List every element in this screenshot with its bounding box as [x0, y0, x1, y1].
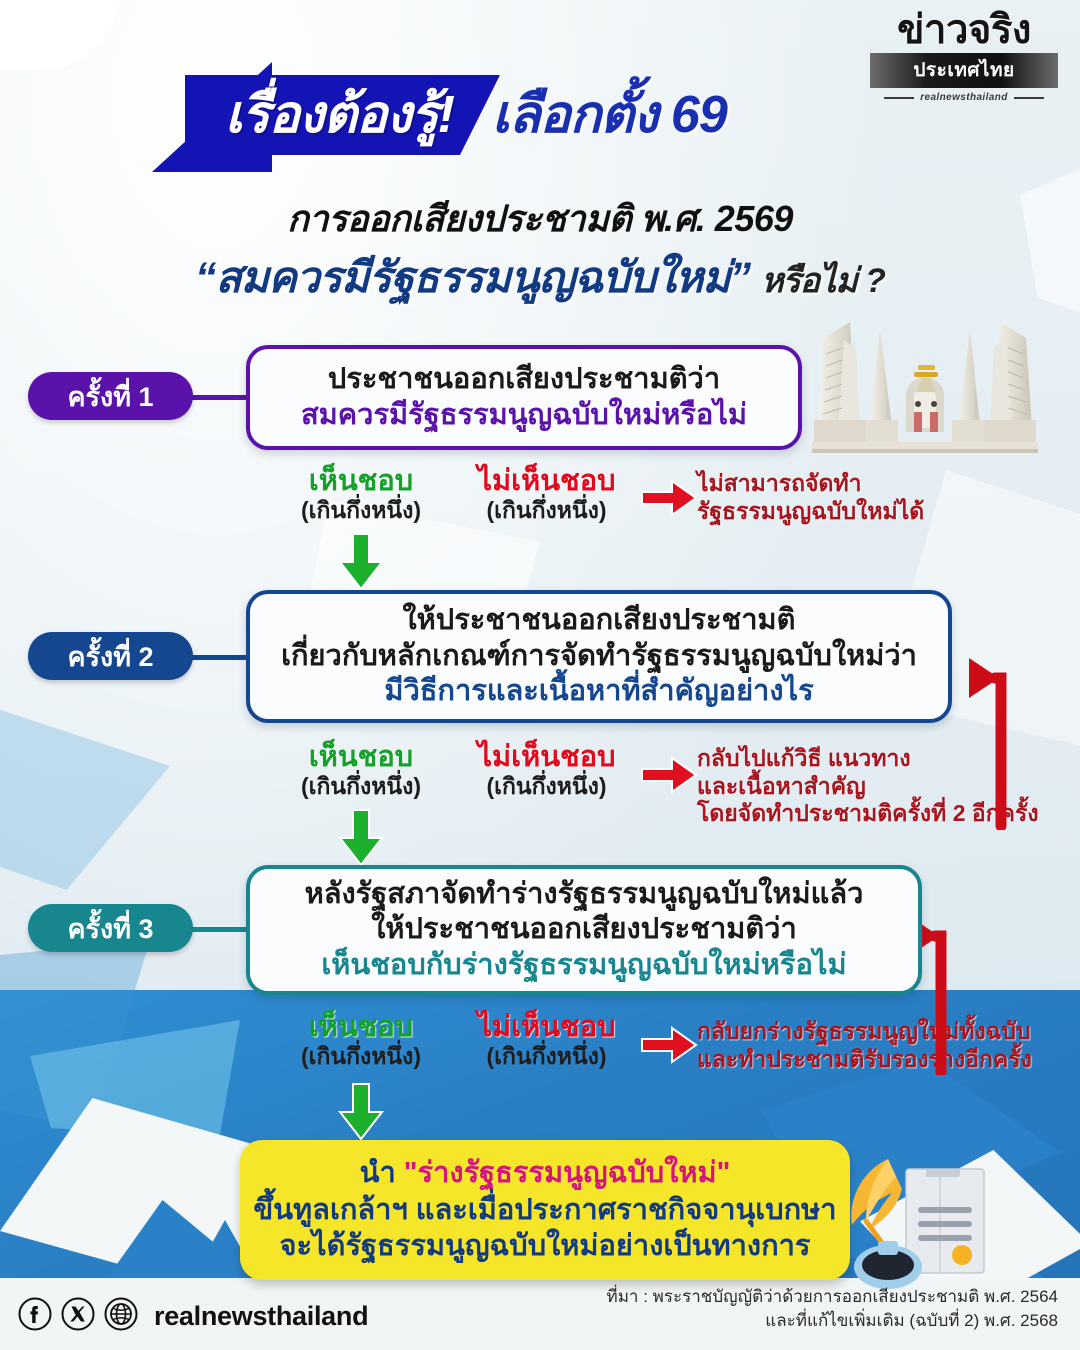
decision-step-1-reject-sub: (เกินกึ่งหนึ่ง) — [459, 498, 634, 523]
badge-step-1: ครั้งที่ 1 — [28, 372, 193, 420]
social-handle: realnewsthailand — [154, 1301, 368, 1332]
decision-step-3-reject: ไม่เห็นชอบ (เกินกึ่งหนึ่ง) — [459, 1012, 634, 1070]
red-right-arrow-icon-3 — [640, 1025, 698, 1065]
outcome-step-1-line-1: ไม่สามารถจัดทำ — [697, 470, 924, 498]
red-loop-back-arrow-icon-2 — [965, 640, 1035, 830]
card-step-2-line-2: เกี่ยวกับหลักเกณฑ์การจัดทำรัฐธรรมนูญฉบับ… — [281, 639, 917, 674]
decision-step-2-reject-sub: (เกินกึ่งหนึ่ง) — [459, 774, 634, 799]
social-links[interactable]: realnewsthailand — [18, 1297, 368, 1336]
decision-step-2-approve: เห็นชอบ (เกินกึ่งหนึ่ง) — [286, 742, 436, 800]
final-line-1: นำ "ร่างรัฐธรรมนูญฉบับใหม่" — [360, 1155, 731, 1192]
subtitle-line-1: การออกเสียงประชามติ พ.ศ. 2569 — [0, 190, 1080, 247]
green-down-arrow-icon-3 — [338, 1082, 384, 1142]
source-citation: ที่มา : พระราชบัญญัติว่าด้วยการออกเสียงป… — [607, 1285, 1058, 1334]
quill-and-document-icon — [844, 1155, 1044, 1295]
header-banner: เรื่องต้องรู้! เลือกตั้ง 69 — [185, 75, 727, 155]
decision-step-2-approve-sub: (เกินกึ่งหนึ่ง) — [286, 774, 436, 799]
card-step-2-line-3: มีวิธีการและเนื้อหาที่สำคัญอย่างไร — [384, 674, 813, 709]
badge-step-2-label: ครั้งที่ 2 — [67, 635, 153, 678]
final-line-1-prefix: นำ — [360, 1157, 404, 1189]
decision-step-2-reject-head: ไม่เห็นชอบ — [459, 742, 634, 772]
infographic-page: ข่าวจริง ประเทศไทย realnewsthailand เรื่… — [0, 0, 1080, 1350]
red-right-arrow-icon-2 — [640, 755, 698, 795]
decision-step-3-reject-head: ไม่เห็นชอบ — [459, 1012, 634, 1042]
badge-step-3: ครั้งที่ 3 — [28, 904, 193, 952]
card-step-2: ให้ประชาชนออกเสียงประชามติ เกี่ยวกับหลัก… — [246, 590, 952, 723]
banner-rest-block: เลือกตั้ง 69 — [474, 75, 727, 155]
card-step-2-line-1: ให้ประชาชนออกเสียงประชามติ — [403, 603, 796, 638]
red-right-arrow-icon — [640, 478, 698, 518]
logo-line-1: ข่าวจริง — [870, 10, 1058, 50]
decision-step-1-reject: ไม่เห็นชอบ (เกินกึ่งหนึ่ง) — [459, 466, 634, 524]
subtitle-quote: “สมควรมีรัฐธรรมนูญฉบับใหม่” — [195, 254, 750, 302]
banner-highlight-block: เรื่องต้องรู้! — [185, 75, 500, 155]
outcome-step-1: ไม่สามารถจัดทำ รัฐธรรมนูญฉบับใหม่ได้ — [697, 470, 924, 525]
badge-step-1-label: ครั้งที่ 1 — [67, 375, 153, 418]
banner-rest-text: เลือกตั้ง 69 — [492, 89, 727, 141]
source-line-1: ที่มา : พระราชบัญญัติว่าด้วยการออกเสียงป… — [607, 1285, 1058, 1310]
facebook-icon[interactable] — [18, 1297, 52, 1336]
final-result-box: นำ "ร่างรัฐธรรมนูญฉบับใหม่" ขึ้นทูลเกล้า… — [240, 1140, 850, 1280]
final-line-3: จะได้รัฐธรรมนูญฉบับใหม่อย่างเป็นทางการ — [279, 1228, 810, 1265]
card-step-3-line-3: เห็นชอบกับร่างรัฐธรรมนูญฉบับใหม่หรือไม่ — [321, 948, 846, 983]
badge-step-3-label: ครั้งที่ 3 — [67, 907, 153, 950]
globe-icon[interactable] — [104, 1297, 138, 1336]
card-step-3-line-1: หลังรัฐสภาจัดทำร่างรัฐธรรมนูญฉบับใหม่แล้… — [305, 877, 864, 912]
decision-step-1-approve: เห็นชอบ (เกินกึ่งหนึ่ง) — [286, 466, 436, 524]
outcome-step-3-line-2: และทำประชามติรับรองร่างอีกครั้ง — [697, 1046, 1032, 1074]
card-step-3-line-2: ให้ประชาชนออกเสียงประชามติว่า — [371, 912, 797, 947]
decision-step-3-reject-sub: (เกินกึ่งหนึ่ง) — [459, 1044, 634, 1069]
democracy-monument-icon — [810, 300, 1040, 460]
green-down-arrow-icon-1 — [338, 532, 384, 592]
source-line-2: และที่แก้ไขเพิ่มเติม (ฉบับที่ 2) พ.ศ. 25… — [607, 1309, 1058, 1334]
logo-line-3: realnewsthailand — [870, 92, 1058, 103]
decision-step-1-approve-head: เห็นชอบ — [286, 466, 436, 496]
decision-step-1-approve-sub: (เกินกึ่งหนึ่ง) — [286, 498, 436, 523]
green-down-arrow-icon-2 — [338, 808, 384, 868]
outcome-step-1-line-2: รัฐธรรมนูญฉบับใหม่ได้ — [697, 498, 924, 526]
decision-step-2-reject: ไม่เห็นชอบ (เกินกึ่งหนึ่ง) — [459, 742, 634, 800]
banner-highlight-text: เรื่องต้องรู้! — [225, 89, 454, 141]
outcome-step-3-line-1: กลับยกร่างรัฐธรรมนูญใหม่ทั้งฉบับ — [697, 1018, 1032, 1046]
decision-step-3-approve-head: เห็นชอบ — [286, 1012, 436, 1042]
decision-step-3-approve: เห็นชอบ (เกินกึ่งหนึ่ง) — [286, 1012, 436, 1070]
final-line-2: ขึ้นทูลเกล้าฯ และเมื่อประกาศราชกิจจานุเบ… — [253, 1192, 836, 1229]
outcome-step-3: กลับยกร่างรัฐธรรมนูญใหม่ทั้งฉบับ และทำปร… — [697, 1018, 1032, 1073]
badge-step-2: ครั้งที่ 2 — [28, 632, 193, 680]
card-step-1-line-1: ประชาชนออกเสียงประชามติว่า — [328, 362, 720, 397]
brand-logo: ข่าวจริง ประเทศไทย realnewsthailand — [870, 10, 1058, 103]
decision-step-3-approve-sub: (เกินกึ่งหนึ่ง) — [286, 1044, 436, 1069]
card-step-1: ประชาชนออกเสียงประชามติว่า สมควรมีรัฐธรร… — [246, 345, 802, 450]
subtitle-tail: หรือไม่ ? — [761, 262, 885, 300]
decision-step-2-approve-head: เห็นชอบ — [286, 742, 436, 772]
decision-step-1-reject-head: ไม่เห็นชอบ — [459, 466, 634, 496]
logo-line-2: ประเทศไทย — [870, 53, 1058, 88]
card-step-3: หลังรัฐสภาจัดทำร่างรัฐธรรมนูญฉบับใหม่แล้… — [246, 865, 922, 995]
final-line-1-quote: "ร่างรัฐธรรมนูญฉบับใหม่" — [404, 1157, 731, 1189]
x-twitter-icon[interactable] — [61, 1297, 95, 1336]
card-step-1-line-2: สมควรมีรัฐธรรมนูญฉบับใหม่หรือไม่ — [301, 398, 747, 433]
